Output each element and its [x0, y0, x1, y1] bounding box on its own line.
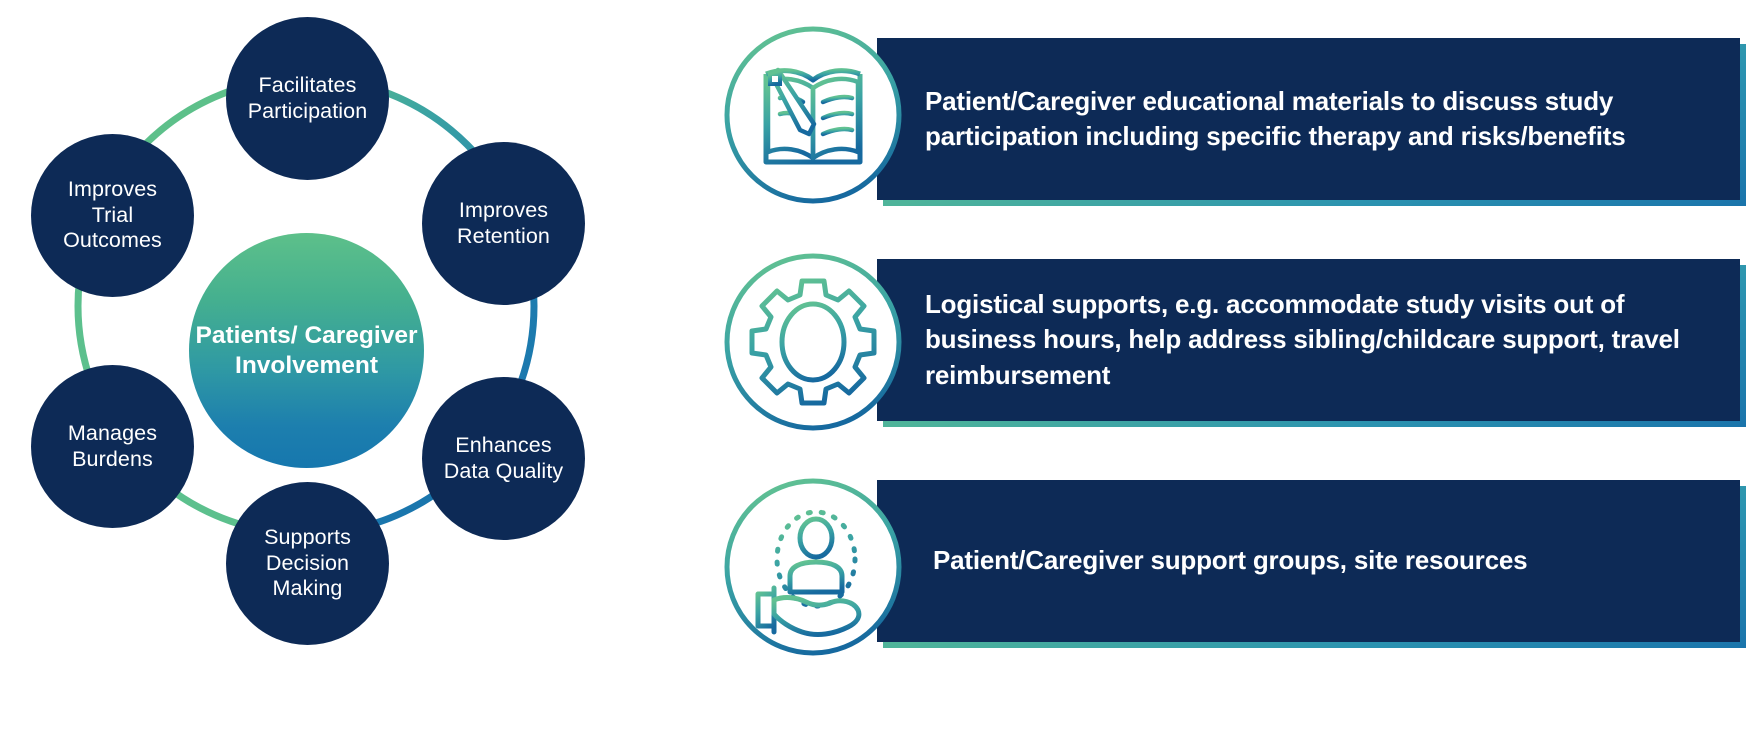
node-label-line1: Supports [258, 525, 357, 550]
node-label-line1: Improves [451, 198, 556, 223]
card-banner: Patient/Caregiver educational materials … [877, 38, 1740, 200]
hub-label-line2: Caregiver [304, 322, 417, 349]
card-banner: Logistical supports, e.g. accommodate st… [877, 259, 1740, 421]
node-label-line2: Participation [242, 99, 374, 124]
card-banner-wrap: Patient/Caregiver educational materials … [877, 38, 1746, 206]
card-banner-wrap: Patient/Caregiver support groups, site r… [877, 480, 1746, 648]
node-enhances-data-quality[interactable]: Enhances Data Quality [422, 377, 585, 540]
node-label-line2: Retention [451, 224, 556, 249]
node-label-line1: Manages [62, 421, 163, 446]
node-label-line1: Facilitates [242, 73, 374, 98]
card-support-groups[interactable]: Patient/Caregiver support groups, site r… [700, 466, 1748, 666]
node-improves-retention[interactable]: Improves Retention [422, 142, 585, 305]
gear-icon [722, 251, 896, 425]
node-label-line1: Enhances [438, 433, 570, 458]
card-banner-wrap: Logistical supports, e.g. accommodate st… [877, 259, 1746, 427]
node-label-line2: Decision [258, 551, 357, 576]
node-label-line2: Data Quality [438, 459, 570, 484]
node-label-line2: Burdens [62, 447, 163, 472]
patient-involvement-wheel: Patients/ Caregiver Involvement Facilita… [0, 0, 700, 738]
card-text: Patient/Caregiver educational materials … [877, 84, 1740, 154]
hub-label-line1: Patients/ [196, 322, 298, 349]
card-logistical-supports[interactable]: Logistical supports, e.g. accommodate st… [700, 245, 1748, 445]
node-manages-burdens[interactable]: Manages Burdens [31, 365, 194, 528]
open-book-with-pen-icon [722, 24, 896, 198]
node-improves-trial-outcomes[interactable]: Improves Trial Outcomes [31, 134, 194, 297]
infographic-canvas: Patients/ Caregiver Involvement Facilita… [0, 0, 1748, 738]
node-facilitates-participation[interactable]: Facilitates Participation [226, 17, 389, 180]
node-label-line1: Improves [57, 177, 168, 202]
node-label-line2: Trial [57, 203, 168, 228]
person-in-hand-support-icon [722, 476, 896, 650]
hub-label-line3: Involvement [235, 352, 378, 379]
card-banner: Patient/Caregiver support groups, site r… [877, 480, 1740, 642]
card-text: Patient/Caregiver support groups, site r… [877, 543, 1547, 578]
node-supports-decision-making[interactable]: Supports Decision Making [226, 482, 389, 645]
hub-patients-caregiver-involvement[interactable]: Patients/ Caregiver Involvement [189, 233, 424, 468]
support-cards-list: Patient/Caregiver educational materials … [700, 0, 1748, 738]
card-educational-materials[interactable]: Patient/Caregiver educational materials … [700, 24, 1748, 224]
node-label-line3: Making [258, 576, 357, 601]
node-label-line3: Outcomes [57, 228, 168, 253]
card-text: Logistical supports, e.g. accommodate st… [877, 287, 1740, 392]
